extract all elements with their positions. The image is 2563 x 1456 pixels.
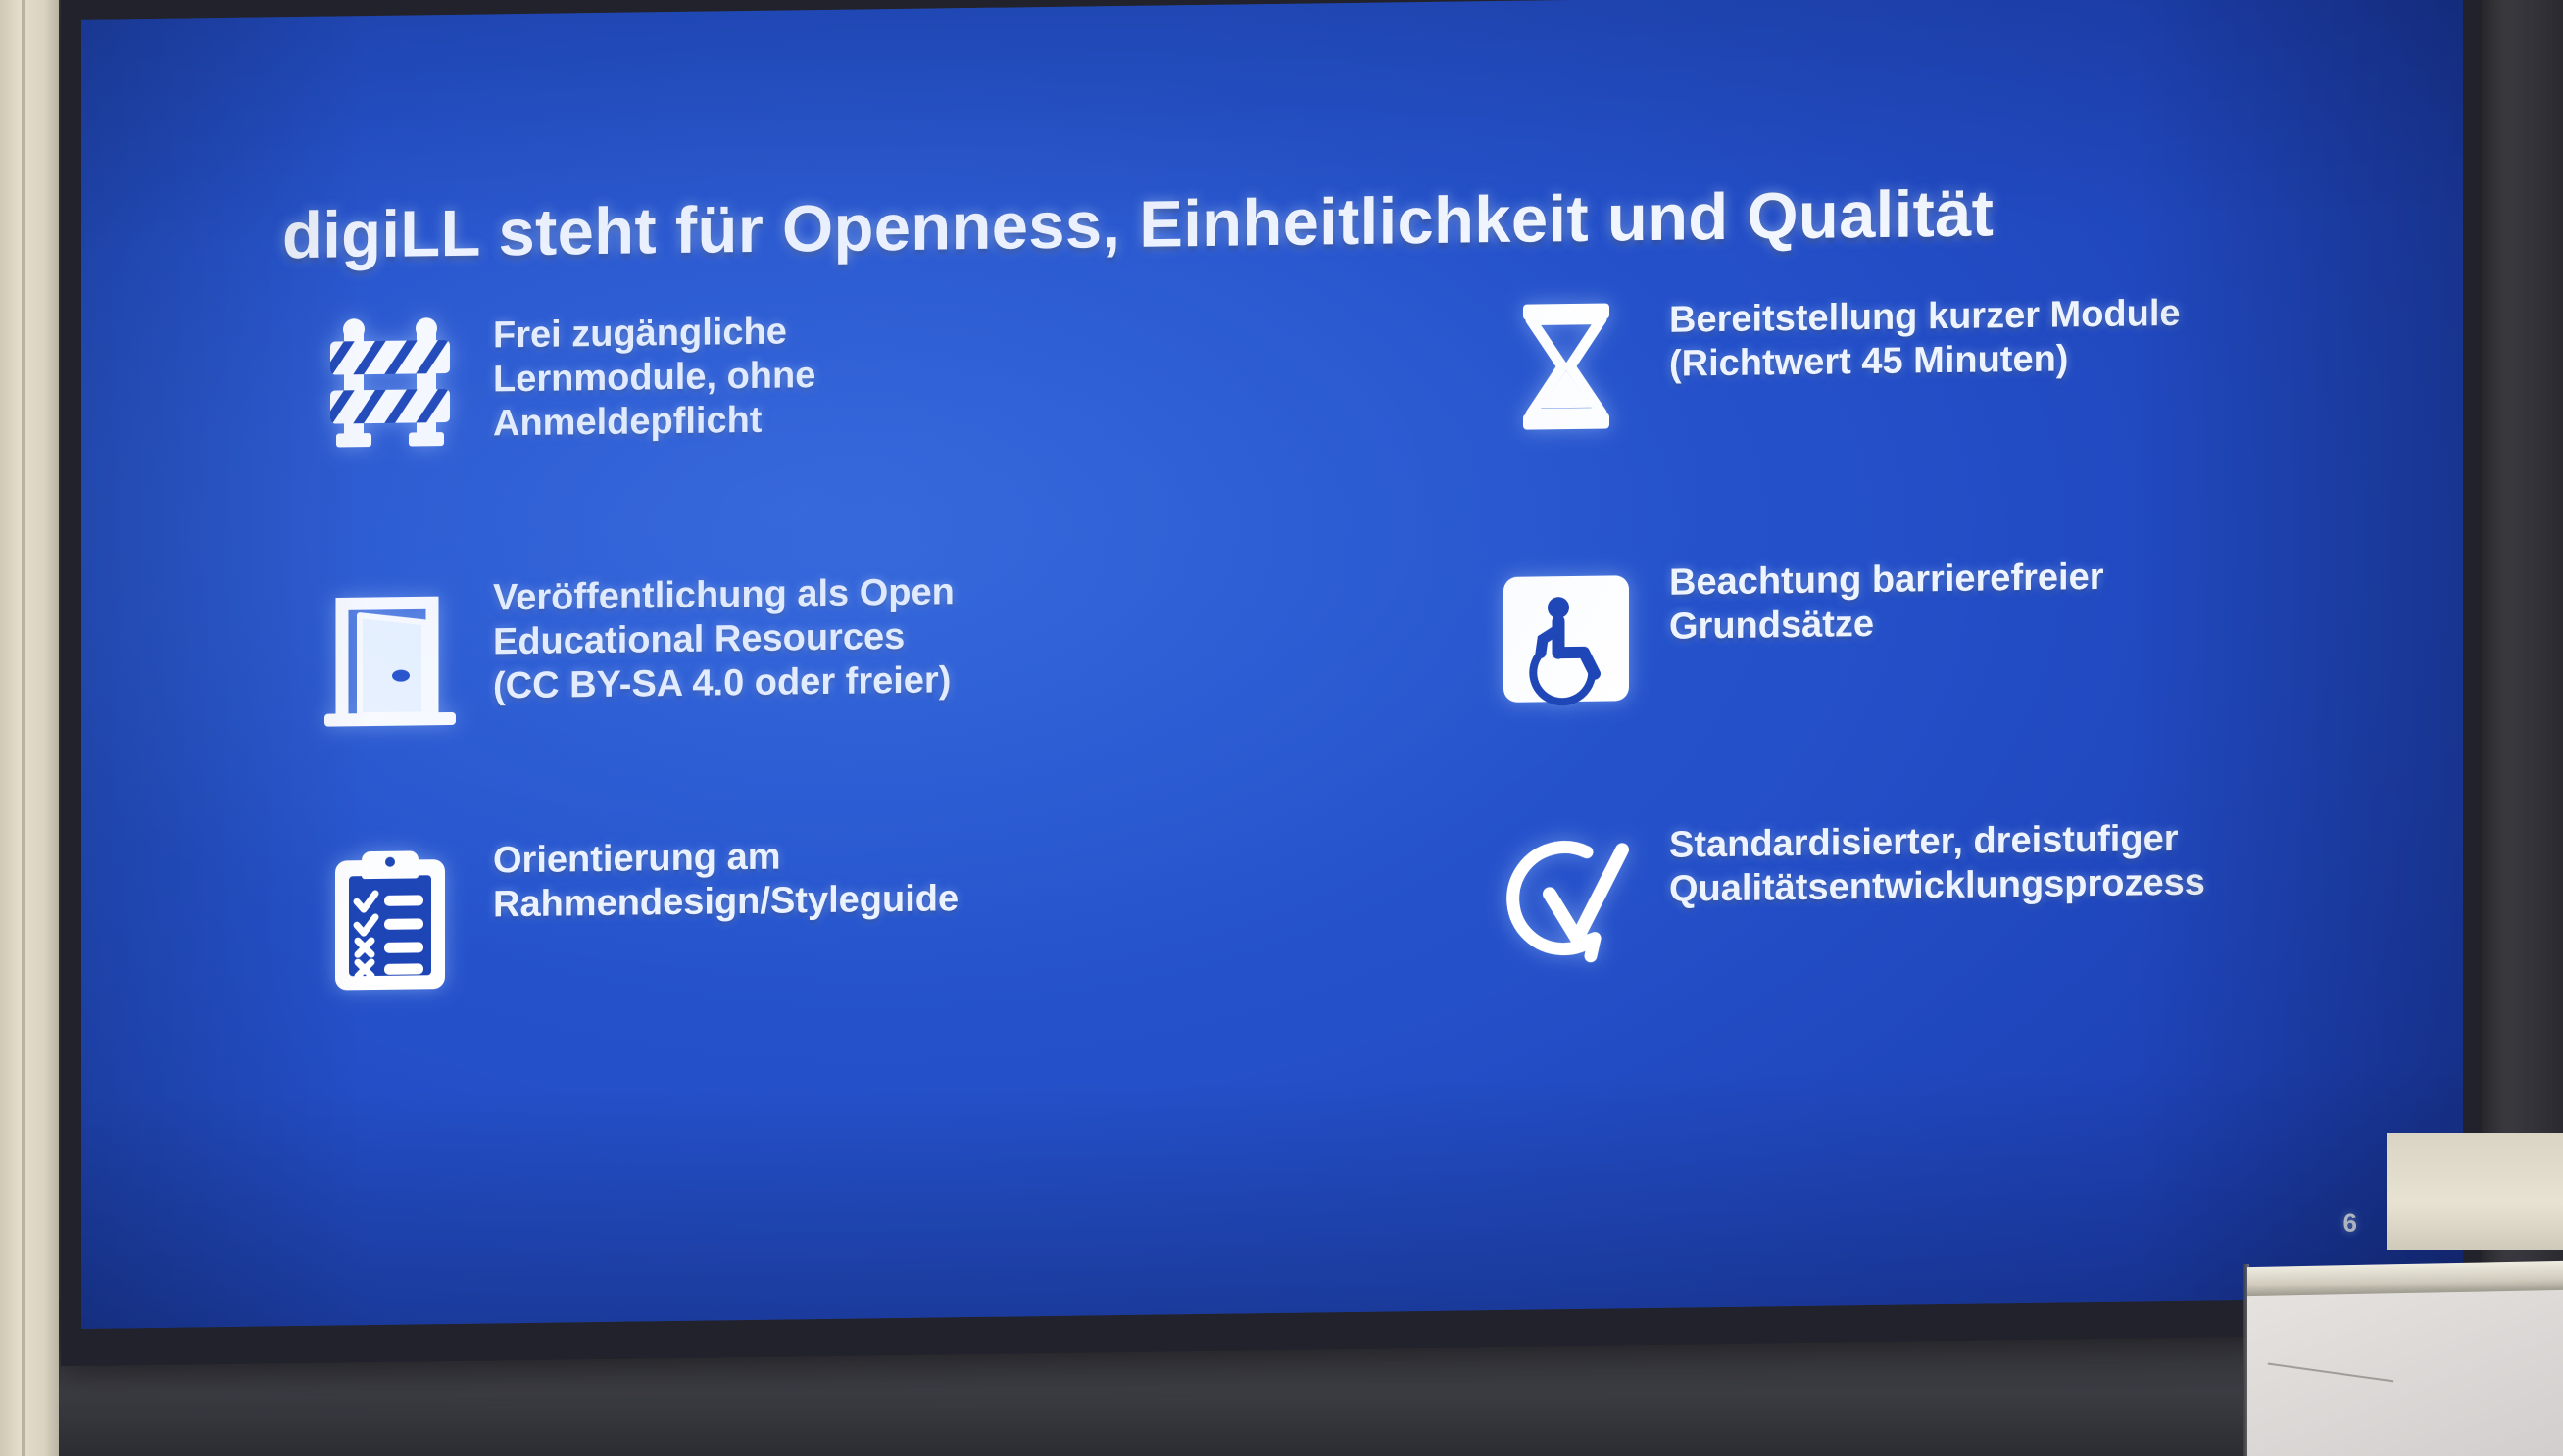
feature-text-line: (CC BY-SA 4.0 oder freier) bbox=[493, 658, 955, 708]
clipboard-checklist-icon bbox=[228, 833, 493, 1033]
feature-text: Standardisierter, dreistufiger Qualitäts… bbox=[1669, 811, 2205, 912]
slide-content: digiLL steht für Openness, Einheitlichke… bbox=[81, 0, 2463, 1329]
feature-text-line: Grundsätze bbox=[1669, 600, 2104, 650]
feature-text: Orientierung am Rahmendesign/Styleguide bbox=[493, 827, 959, 927]
feature-text-line: (Richtwert 45 Minuten) bbox=[1669, 336, 2181, 387]
cycle-checkmark-icon bbox=[1434, 818, 1669, 1017]
feature-item-qualitaetsentwicklungsprozess: Standardisierter, dreistufiger Qualitäts… bbox=[1434, 808, 2414, 1084]
feature-grid: Frei zugängliche Lernmodule, ohne Anmeld… bbox=[228, 283, 2385, 1099]
feature-text-line: Qualitätsentwicklungsprozess bbox=[1669, 860, 2205, 911]
flipchart bbox=[2240, 1250, 2563, 1456]
feature-text-line: Frei zugängliche bbox=[493, 310, 815, 358]
feature-text-line: Standardisierter, dreistufiger bbox=[1669, 817, 2205, 868]
wheelchair-accessibility-icon bbox=[1434, 556, 1669, 758]
flipchart-paper bbox=[2247, 1290, 2563, 1456]
feature-text-line: Anmeldepflicht bbox=[493, 398, 815, 446]
wall-left bbox=[0, 0, 59, 1456]
feature-text: Bereitstellung kurzer Module (Richtwert … bbox=[1669, 286, 2181, 386]
slide-title: digiLL steht für Openness, Einheitlichke… bbox=[282, 171, 2341, 273]
projected-slide: digiLL steht für Openness, Einheitlichke… bbox=[81, 0, 2463, 1329]
road-barrier-icon bbox=[228, 308, 493, 502]
hourglass-icon bbox=[1434, 293, 1669, 486]
feature-text-line: Veröffentlichung als Open bbox=[493, 570, 955, 620]
feature-item-barrierefreiheit: Beachtung barrierefreier Grundsätze bbox=[1434, 546, 2414, 821]
feature-text-line: Educational Resources bbox=[493, 614, 955, 664]
slide-page-number: 6 bbox=[2343, 1208, 2357, 1238]
open-door-icon bbox=[228, 570, 493, 774]
flipchart-crease bbox=[2268, 1363, 2394, 1383]
feature-item-veroeffentlichung-oer: Veröffentlichung als Open Educational Re… bbox=[228, 558, 1434, 837]
feature-text-line: Rahmendesign/Styleguide bbox=[493, 877, 959, 927]
feature-text-line: Beachtung barrierefreier bbox=[1669, 556, 2104, 606]
wall-seam bbox=[22, 0, 25, 1456]
feature-text: Beachtung barrierefreier Grundsätze bbox=[1669, 550, 2104, 649]
feature-item-bereitstellung-kurzer-module: Bereitstellung kurzer Module (Richtwert … bbox=[1434, 283, 2414, 558]
feature-text: Veröffentlichung als Open Educational Re… bbox=[493, 564, 955, 708]
room-photo-scene: digiLL steht für Openness, Einheitlichke… bbox=[0, 0, 2563, 1456]
feature-item-frei-zugaengliche-lernmodule: Frei zugängliche Lernmodule, ohne Anmeld… bbox=[228, 296, 1434, 574]
feature-text-line: Orientierung am bbox=[493, 833, 959, 883]
feature-text-line: Lernmodule, ohne bbox=[493, 354, 815, 402]
feature-text: Frei zugängliche Lernmodule, ohne Anmeld… bbox=[493, 304, 815, 446]
feature-text-line: Bereitstellung kurzer Module bbox=[1669, 292, 2181, 343]
feature-item-rahmendesign-styleguide: Orientierung am Rahmendesign/Styleguide bbox=[228, 821, 1434, 1099]
flipchart-upper-panel bbox=[2387, 1133, 2563, 1250]
